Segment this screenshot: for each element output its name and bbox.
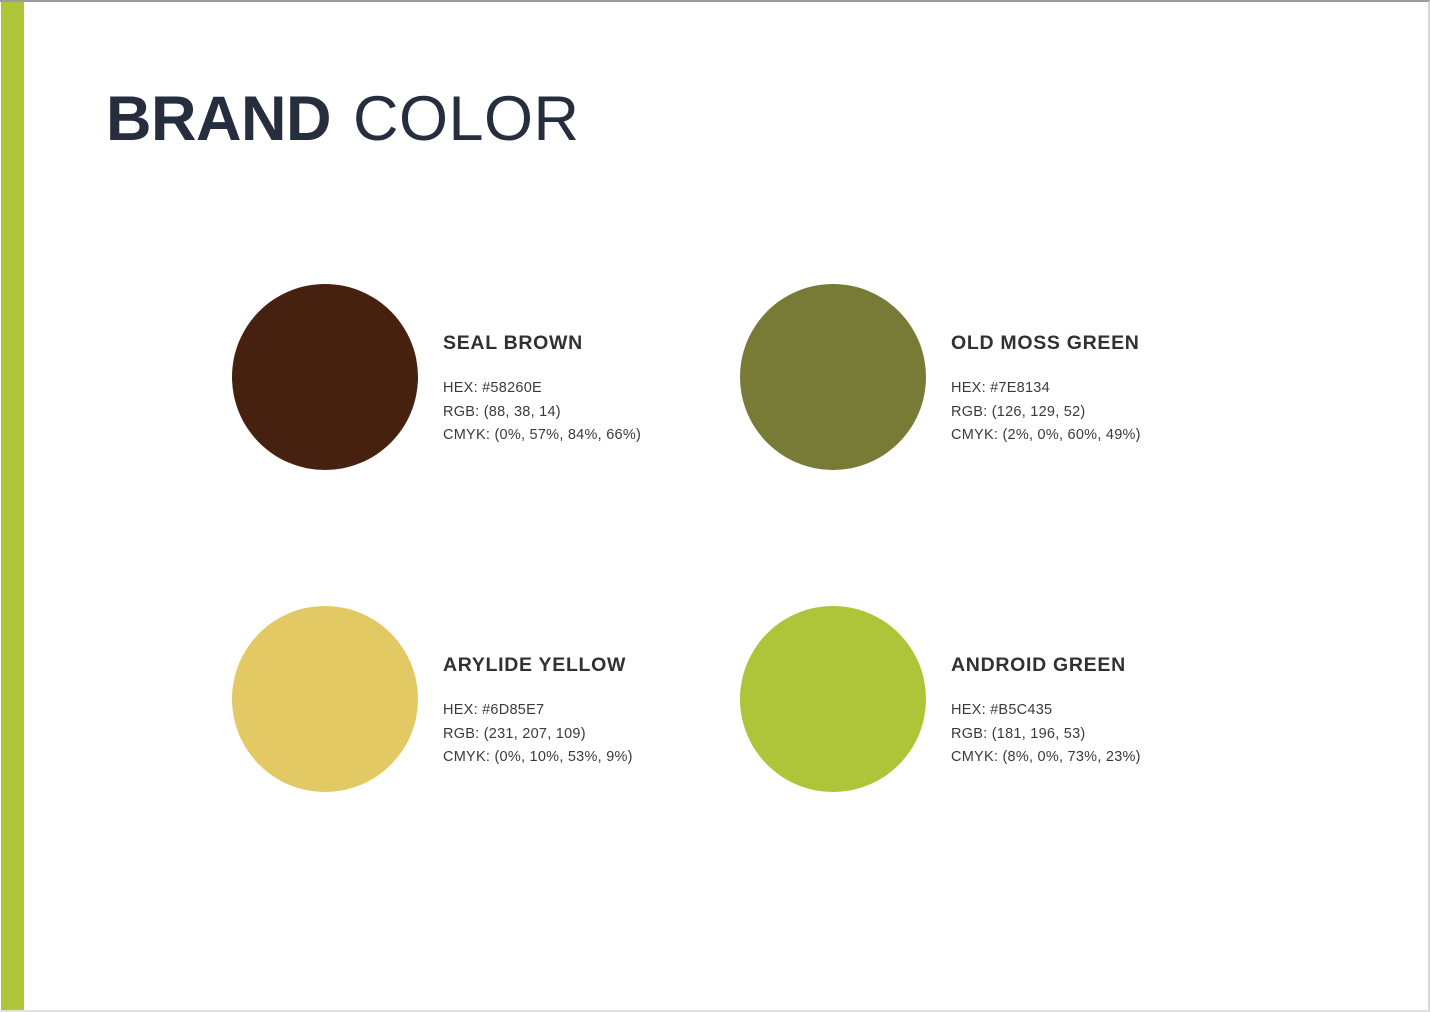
swatch-item: OLD MOSS GREEN HEX: #7E8134 RGB: (126, 1… [740,284,1248,470]
swatch-cmyk-value: CMYK: (8%, 0%, 73%, 23%) [951,746,1141,770]
swatch-item: ARYLIDE YELLOW HEX: #6D85E7 RGB: (231, 2… [232,606,740,792]
swatch-grid: SEAL BROWN HEX: #58260E RGB: (88, 38, 14… [232,284,1372,928]
swatch-cmyk-value: CMYK: (0%, 57%, 84%, 66%) [443,424,641,448]
color-swatch-circle [740,606,926,792]
swatch-rgb-value: RGB: (231, 207, 109) [443,723,633,747]
swatch-name: ARYLIDE YELLOW [443,654,633,677]
swatch-item: ANDROID GREEN HEX: #B5C435 RGB: (181, 19… [740,606,1248,792]
swatch-name: SEAL BROWN [443,332,641,355]
page-title-light: COLOR [353,84,580,154]
color-swatch-circle [232,606,418,792]
swatch-cmyk-value: CMYK: (0%, 10%, 53%, 9%) [443,746,633,770]
color-swatch-circle [232,284,418,470]
page-title-bold: BRAND [106,84,331,154]
swatch-item: SEAL BROWN HEX: #58260E RGB: (88, 38, 14… [232,284,740,470]
swatch-name: OLD MOSS GREEN [951,332,1141,355]
swatch-info: OLD MOSS GREEN HEX: #7E8134 RGB: (126, 1… [951,284,1141,448]
swatch-rgb-value: RGB: (126, 129, 52) [951,401,1141,425]
swatch-hex-value: HEX: #B5C435 [951,699,1141,723]
swatch-rgb-value: RGB: (88, 38, 14) [443,401,641,425]
swatch-hex-value: HEX: #58260E [443,377,641,401]
swatch-info: ARYLIDE YELLOW HEX: #6D85E7 RGB: (231, 2… [443,606,633,770]
swatch-hex-value: HEX: #7E8134 [951,377,1141,401]
swatch-rgb-value: RGB: (181, 196, 53) [951,723,1141,747]
left-accent-bar [1,2,24,1012]
color-swatch-circle [740,284,926,470]
swatch-name: ANDROID GREEN [951,654,1141,677]
swatch-cmyk-value: CMYK: (2%, 0%, 60%, 49%) [951,424,1141,448]
page-title: BRANDCOLOR [106,88,580,151]
swatch-hex-value: HEX: #6D85E7 [443,699,633,723]
swatch-info: SEAL BROWN HEX: #58260E RGB: (88, 38, 14… [443,284,641,448]
swatch-info: ANDROID GREEN HEX: #B5C435 RGB: (181, 19… [951,606,1141,770]
brand-color-page: BRANDCOLOR SEAL BROWN HEX: #58260E RGB: … [0,0,1430,1012]
